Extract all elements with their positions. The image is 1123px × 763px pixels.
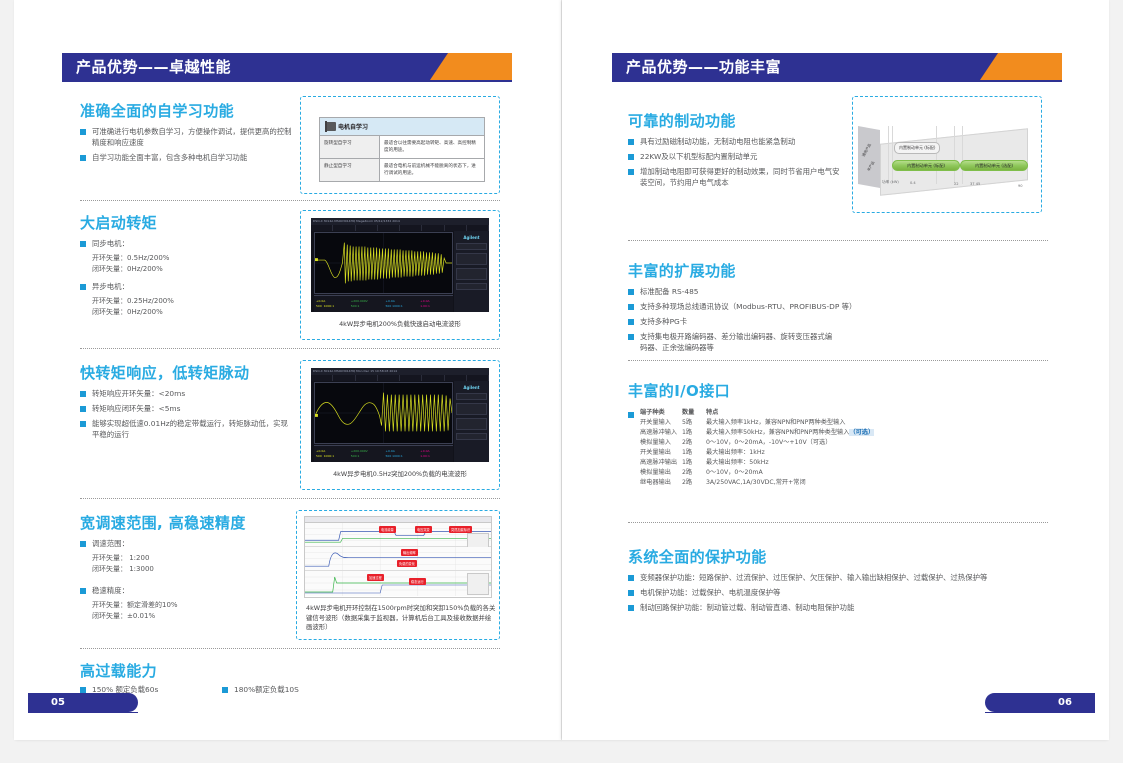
io-table: 端子种类 数量 特点 开关量输入 5路 最大输入频率1kHz，兼容NPN和PNP… bbox=[628, 408, 1028, 488]
group-label: 异步电机： bbox=[92, 281, 129, 292]
bullet-square-icon bbox=[80, 406, 86, 412]
scope-side-block bbox=[456, 403, 487, 415]
banner-wedge-orange bbox=[980, 53, 1062, 80]
table-cell-desc: 最适合以往需要高起动转矩、高速、高控制精度的用途。 bbox=[380, 136, 484, 158]
page-rule-left bbox=[28, 712, 138, 713]
bullet-text: 制动回路保护功能：制动管过载、制动管直通、制动电阻保护功能 bbox=[640, 602, 854, 613]
io-row-name: 模拟量输出 bbox=[628, 468, 682, 478]
list-item: 标准配备 RS-485 bbox=[628, 286, 958, 297]
bullet-text: 增加制动电阻即可获得更好的制动效果，同时节省用户电气安装空间，节约用户电气成本 bbox=[640, 166, 843, 188]
measurement: +0.0A500 1000:1 bbox=[384, 449, 419, 459]
spec-line: 闭环矢量：±0.01% bbox=[80, 611, 295, 622]
chart-panel-3: 加速过程 稳态运行 bbox=[305, 571, 491, 596]
motor-self-learning-table: 电机自学习 旋转型自学习 最适合以往需要高起动转矩、高速、高控制精度的用途。 静… bbox=[319, 117, 485, 182]
bullet-square-icon bbox=[628, 139, 634, 145]
io-table-row: 开关量输入 5路 最大输入频率1kHz，兼容NPN和PNP两种类型输入 bbox=[628, 418, 1028, 428]
bullet-square-icon bbox=[80, 541, 86, 547]
io-row-name: 继电器输出 bbox=[628, 478, 682, 488]
table-cell-desc: 最适合电机与前运机械不能脱离的状态下，进行调试的用途。 bbox=[380, 159, 484, 181]
bullet-square-icon bbox=[628, 289, 634, 295]
right-banner-title: 产品优势——功能丰富 bbox=[612, 56, 781, 77]
spec-line: 闭环矢量：0Hz/200% bbox=[80, 264, 295, 275]
diagram-tag-standard: 内置制动单元 (标配) bbox=[894, 142, 940, 154]
io-row-qty: 1路 bbox=[682, 428, 706, 438]
io-row-badge: （可选） bbox=[849, 429, 874, 436]
spec-line: 开环矢量：0.25Hz/200% bbox=[80, 296, 295, 307]
bullet-text: 能够实现超低速0.01Hz的稳定带载运行，转矩脉动低，实现平稳的运行 bbox=[92, 418, 295, 440]
heading-overload: 高过载能力 bbox=[80, 660, 157, 681]
scope-side-panel: Agilent bbox=[454, 231, 489, 312]
scope-side-block bbox=[456, 253, 487, 265]
braking-diagram: 通用产品 本产品 内置制动单元 (标配) 内置制动单元 (标配) 内置制动单元 … bbox=[858, 118, 1036, 194]
io-row-feature: 0～10V，0～20mA bbox=[706, 468, 1028, 478]
list-item: 支持多种现场总线通讯协议（Modbus-RTU、PROFIBUS-DP 等） bbox=[628, 301, 958, 312]
list-item: 支持多种PG卡 bbox=[628, 316, 958, 327]
chart-legend-box bbox=[467, 573, 489, 595]
list-item: 具有过励磁制动功能，无制动电阻也能紧急制动 bbox=[628, 136, 843, 147]
list-item: 可准确进行电机参数自学习，方便操作调试，提供更高的控制精度和响应速度 bbox=[80, 126, 295, 148]
table-row: 旋转型自学习 最适合以往需要高起动转矩、高速、高控制精度的用途。 bbox=[320, 136, 484, 159]
right-banner: 产品优势——功能丰富 bbox=[612, 53, 1062, 80]
bullet-square-icon bbox=[628, 412, 634, 418]
groups-starting-torque: 同步电机： 开环矢量：0.5Hz/200% 闭环矢量：0Hz/200% 异步电机… bbox=[80, 238, 295, 318]
oscilloscope-screenshot-1: DSO-X 3014A MSOX3014HQ MegaZoom 05/12/13… bbox=[311, 218, 489, 312]
io-row-name: 模拟量输入 bbox=[628, 438, 682, 448]
bullet-square-icon bbox=[628, 304, 634, 310]
diagram-pill-optional: 内置制动单元 (选配) bbox=[960, 160, 1028, 171]
io-table-header: 端子种类 数量 特点 bbox=[628, 408, 1028, 418]
axis-tick: 90 bbox=[1018, 184, 1023, 188]
io-table-row: 高速脉冲输出 1路 最大输出频率：50kHz bbox=[628, 458, 1028, 468]
io-table-row: 模拟量输出 2路 0～10V，0～20mA bbox=[628, 468, 1028, 478]
io-row-feature: 最大输入频率50kHz，兼容NPN和PNP两种类型输入（可选） bbox=[706, 428, 1028, 438]
bullet-text: 支持集电极开路编码器、差分输出编码器、旋转变压器式编码器、正余弦编码器等 bbox=[640, 331, 835, 353]
list-item: 转矩响应闭环矢量：<5ms bbox=[80, 403, 295, 414]
io-table-row: 高速脉冲输入 1路 最大输入频率50kHz，兼容NPN和PNP两种类型输入（可选… bbox=[628, 428, 1028, 438]
table-title: 电机自学习 bbox=[338, 122, 368, 131]
chart-annotation: 稳态运行 bbox=[409, 578, 426, 585]
page-rule-right bbox=[985, 712, 1095, 713]
scope-topbar: DSO-X 3014A MSOX3014HQ Mon Dec 15 10:58:… bbox=[311, 368, 489, 375]
chart-annotation: 加速过程 bbox=[367, 574, 384, 581]
heading-expansion: 丰富的扩展功能 bbox=[628, 260, 736, 281]
diagram-pill-standard: 内置制动单元 (标配) bbox=[892, 160, 960, 171]
table-cell-name: 静止型自学习 bbox=[320, 159, 380, 181]
grid-line bbox=[954, 126, 955, 184]
bullet-square-icon bbox=[80, 391, 86, 397]
brochure-spread: 产品优势——卓越性能 准确全面的自学习功能 可准确进行电机参数自学习，方便操作调… bbox=[0, 0, 1123, 763]
banner-wedge-orange bbox=[430, 53, 512, 80]
list-item: 同步电机： bbox=[80, 238, 295, 249]
scope-side-panel: Agilent bbox=[454, 381, 489, 462]
diagram-wall bbox=[858, 126, 880, 188]
divider bbox=[628, 360, 1048, 361]
scope-plot bbox=[314, 382, 453, 444]
io-row-name: 高速脉冲输出 bbox=[628, 458, 682, 468]
list-item: 支持集电极开路编码器、差分输出编码器、旋转变压器式编码器、正余弦编码器等 bbox=[628, 331, 958, 353]
heading-braking: 可靠的制动功能 bbox=[628, 110, 736, 131]
io-header-name: 端子种类 bbox=[640, 408, 665, 418]
scope-brand-label: Agilent bbox=[454, 381, 489, 390]
measurement: +0.0A500 1000:1 bbox=[384, 299, 419, 309]
bullet-text: 变频器保护功能：短路保护、过流保护、过压保护、欠压保护、输入输出缺相保护、过载保… bbox=[640, 572, 987, 583]
io-row-name: 开关量输出 bbox=[628, 448, 682, 458]
bullet-square-icon bbox=[628, 169, 634, 175]
bullets-braking: 具有过励磁制动功能，无制动电阻也能紧急制动 22KW及以下机型标配内置制动单元 … bbox=[628, 136, 843, 192]
grid-line bbox=[888, 126, 889, 184]
list-item: 制动回路保护功能：制动管过载、制动管直通、制动电阻保护功能 bbox=[628, 602, 1048, 613]
bullet-text: 支持多种PG卡 bbox=[640, 316, 687, 327]
bullet-square-icon bbox=[80, 241, 86, 247]
io-row-name: 开关量输入 bbox=[628, 418, 682, 428]
measurement: +200.000V500:1 bbox=[349, 449, 384, 459]
bullets-expansion: 标准配备 RS-485 支持多种现场总线通讯协议（Modbus-RTU、PROF… bbox=[628, 286, 958, 357]
scope-waveform-2 bbox=[315, 383, 452, 443]
bullet-text: 180%额定负载10S bbox=[234, 684, 299, 695]
chart-annotation: 电压突变 bbox=[415, 526, 432, 533]
bullets-overload-2: 180%额定负载10S bbox=[222, 684, 299, 699]
io-table-row: 模拟量输入 2路 0～10V，0～20mA，-10V～+10V（可选） bbox=[628, 438, 1028, 448]
scope-measurements: +0.0A500 1000:1 +200.000V500:1 +0.0A500 … bbox=[314, 445, 453, 462]
signal-chart-screenshot: 电流增量 电压突变 突然加载标识 输出频率 负载的变化 bbox=[304, 516, 492, 598]
scope-plot bbox=[314, 232, 453, 294]
bullet-square-icon bbox=[628, 605, 634, 611]
grid-line bbox=[936, 126, 937, 184]
scope-side-block bbox=[456, 243, 487, 250]
list-item: 变频器保护功能：短路保护、过流保护、过压保护、欠压保护、输入输出缺相保护、过载保… bbox=[628, 572, 1048, 583]
table-header: 电机自学习 bbox=[320, 118, 484, 136]
bullet-text: 自学习功能全面丰富，包含多种电机自学习功能 bbox=[92, 152, 247, 163]
list-item: 180%额定负载10S bbox=[222, 684, 299, 695]
divider bbox=[80, 200, 500, 201]
oscilloscope-screenshot-2: DSO-X 3014A MSOX3014HQ Mon Dec 15 10:58:… bbox=[311, 368, 489, 462]
chart-annotation: 负载的变化 bbox=[397, 560, 417, 567]
list-item: 能够实现超低速0.01Hz的稳定带载运行，转矩脉动低，实现平稳的运行 bbox=[80, 418, 295, 440]
left-banner-underline bbox=[62, 80, 512, 82]
group-label: 调速范围： bbox=[92, 538, 129, 549]
heading-self-learning: 准确全面的自学习功能 bbox=[80, 100, 234, 121]
page-left: 产品优势——卓越性能 准确全面的自学习功能 可准确进行电机参数自学习，方便操作调… bbox=[14, 0, 561, 740]
page-number-left-label: 05 bbox=[51, 697, 65, 708]
bullet-square-icon bbox=[628, 334, 634, 340]
group-label: 同步电机： bbox=[92, 238, 129, 249]
io-row-qty: 1路 bbox=[682, 448, 706, 458]
scope-waveform-1 bbox=[315, 233, 452, 293]
grid-line bbox=[962, 126, 963, 184]
table-row: 静止型自学习 最适合电机与前运机械不能脱离的状态下，进行调试的用途。 bbox=[320, 159, 484, 181]
io-row-feature: 3A/250VAC,1A/30VDC,常开+常闭 bbox=[706, 478, 1028, 488]
motor-icon bbox=[325, 121, 333, 132]
divider bbox=[80, 648, 500, 649]
scope-brand-label: Agilent bbox=[454, 231, 489, 240]
divider bbox=[80, 498, 500, 499]
measurement: +200.000V500:1 bbox=[349, 299, 384, 309]
left-banner: 产品优势——卓越性能 bbox=[62, 53, 512, 80]
heading-speed-range: 宽调速范围, 高稳速精度 bbox=[80, 512, 246, 533]
group-label: 稳速精度： bbox=[92, 585, 129, 596]
caption-scope-2: 4kW异步电机0.5Hz突加200%负载的电流波形 bbox=[306, 470, 494, 480]
bullet-text: 22KW及以下机型标配内置制动单元 bbox=[640, 151, 757, 162]
grid-line bbox=[892, 126, 893, 184]
right-banner-underline bbox=[612, 80, 1062, 82]
heading-protection: 系统全面的保护功能 bbox=[628, 546, 767, 567]
io-row-feature: 0～10V，0～20mA，-10V～+10V（可选） bbox=[706, 438, 1028, 448]
caption-signal-chart: 4kW异步电机开环控制在1500rpm时突加和突卸150%负载的各关键信号波形（… bbox=[302, 604, 496, 633]
bullets-self-learning: 可准确进行电机参数自学习，方便操作调试，提供更高的控制精度和响应速度 自学习功能… bbox=[80, 126, 295, 167]
divider bbox=[80, 348, 500, 349]
io-header-qty: 数量 bbox=[682, 408, 706, 418]
page-number-right-label: 06 bbox=[1058, 697, 1072, 708]
list-item: 增加制动电阻即可获得更好的制动效果，同时节省用户电气安装空间，节约用户电气成本 bbox=[628, 166, 843, 188]
bullet-text: 具有过励磁制动功能，无制动电阻也能紧急制动 bbox=[640, 136, 795, 147]
scope-side-block bbox=[456, 418, 487, 430]
bullet-square-icon bbox=[80, 421, 86, 427]
bullet-square-icon bbox=[628, 575, 634, 581]
axis-tick: 0.4 bbox=[910, 181, 916, 185]
chart-traces-3 bbox=[305, 571, 491, 596]
bullet-text: 转矩响应闭环矢量：<5ms bbox=[92, 403, 180, 414]
heading-io: 丰富的I/O接口 bbox=[628, 380, 730, 401]
axis-tick: 22 bbox=[954, 182, 959, 186]
measurement: +0.0A1.00:1 bbox=[418, 449, 453, 459]
chart-panel-2: 输出频率 负载的变化 bbox=[305, 547, 491, 571]
scope-topbar: DSO-X 3014A MSOX3014HQ MegaZoom 05/12/13… bbox=[311, 218, 489, 225]
bullet-square-icon bbox=[80, 129, 86, 135]
io-row-name: 高速脉冲输入 bbox=[628, 428, 682, 438]
io-table-row: 开关量输出 1路 最大输出频率：1kHz bbox=[628, 448, 1028, 458]
io-row-qty: 2路 bbox=[682, 478, 706, 488]
io-row-feature: 最大输出频率：1kHz bbox=[706, 448, 1028, 458]
scope-side-block bbox=[456, 268, 487, 280]
axis-tick: 37 45 bbox=[970, 182, 980, 186]
list-item: 稳速精度： bbox=[80, 585, 295, 596]
io-table-row: 继电器输出 2路 3A/250VAC,1A/30VDC,常开+常闭 bbox=[628, 478, 1028, 488]
scope-side-block bbox=[456, 433, 487, 440]
bullet-text: 电机保护功能：过载保护、电机温度保护等 bbox=[640, 587, 780, 598]
heading-torque-response: 快转矩响应，低转矩脉动 bbox=[80, 362, 249, 383]
heading-starting-torque: 大启动转矩 bbox=[80, 212, 157, 233]
chart-annotation: 输出频率 bbox=[401, 549, 418, 556]
divider bbox=[628, 240, 1048, 241]
spec-line: 开环矢量：额定滑差的10% bbox=[80, 600, 295, 611]
page-number-right: 06 bbox=[985, 693, 1095, 712]
bullet-text: 可准确进行电机参数自学习，方便操作调试，提供更高的控制精度和响应速度 bbox=[92, 126, 295, 148]
caption-scope-1: 4kW异步电机200%负载快速启动电流波形 bbox=[306, 320, 494, 330]
bullet-text: 标准配备 RS-485 bbox=[640, 286, 699, 297]
spec-line: 闭环矢量： 1:3000 bbox=[80, 564, 295, 575]
bullet-square-icon bbox=[628, 319, 634, 325]
spec-line: 开环矢量：0.5Hz/200% bbox=[80, 253, 295, 264]
scope-side-block bbox=[456, 283, 487, 290]
bullet-square-icon bbox=[80, 155, 86, 161]
chart-annotation: 突然加载标识 bbox=[449, 526, 472, 533]
list-item: 自学习功能全面丰富，包含多种电机自学习功能 bbox=[80, 152, 295, 163]
bullet-square-icon bbox=[80, 588, 86, 594]
bullets-torque-response: 转矩响应开环矢量：<20ms 转矩响应闭环矢量：<5ms 能够实现超低速0.01… bbox=[80, 388, 295, 444]
list-item: 22KW及以下机型标配内置制动单元 bbox=[628, 151, 843, 162]
io-row-qty: 2路 bbox=[682, 438, 706, 448]
measurement: +0.0A500 1000:1 bbox=[314, 449, 349, 459]
divider bbox=[628, 522, 1048, 523]
bullet-square-icon bbox=[222, 687, 228, 693]
page-number-left: 05 bbox=[28, 693, 138, 712]
chart-panel-1: 电流增量 电压突变 突然加载标识 bbox=[305, 523, 491, 547]
left-banner-title: 产品优势——卓越性能 bbox=[62, 56, 231, 77]
io-row-feature: 最大输出频率：50kHz bbox=[706, 458, 1028, 468]
chart-annotation: 电流增量 bbox=[379, 526, 396, 533]
bullet-text: 转矩响应开环矢量：<20ms bbox=[92, 388, 185, 399]
list-item: 异步电机： bbox=[80, 281, 295, 292]
bullet-text: 支持多种现场总线通讯协议（Modbus-RTU、PROFIBUS-DP 等） bbox=[640, 301, 856, 312]
list-item: 电机保护功能：过载保护、电机温度保护等 bbox=[628, 587, 1048, 598]
spec-line: 闭环矢量：0Hz/200% bbox=[80, 307, 295, 318]
list-item: 转矩响应开环矢量：<20ms bbox=[80, 388, 295, 399]
bullets-protection: 变频器保护功能：短路保护、过流保护、过压保护、欠压保护、输入输出缺相保护、过载保… bbox=[628, 572, 1048, 617]
axis-unit-label: 功率 (kW) bbox=[882, 180, 899, 185]
io-row-feature: 最大输入频率1kHz，兼容NPN和PNP两种类型输入 bbox=[706, 418, 1028, 428]
bullet-square-icon bbox=[80, 284, 86, 290]
groups-speed-range: 调速范围： 开环矢量： 1:200 闭环矢量： 1:3000 稳速精度： 开环矢… bbox=[80, 538, 295, 622]
scope-measurements: +0.0A500 1000:1 +200.000V500:1 +0.0A500 … bbox=[314, 295, 453, 312]
page-right: 产品优势——功能丰富 可靠的制动功能 具有过励磁制动功能，无制动电阻也能紧急制动… bbox=[562, 0, 1109, 740]
measurement: +0.0A500 1000:1 bbox=[314, 299, 349, 309]
io-row-qty: 2路 bbox=[682, 468, 706, 478]
spec-line: 开环矢量： 1:200 bbox=[80, 553, 295, 564]
measurement: +0.0A1.00:1 bbox=[418, 299, 453, 309]
list-item: 调速范围： bbox=[80, 538, 295, 549]
io-header-feature: 特点 bbox=[706, 408, 1028, 418]
bullet-square-icon bbox=[628, 590, 634, 596]
table-cell-name: 旋转型自学习 bbox=[320, 136, 380, 158]
bullet-square-icon bbox=[628, 154, 634, 160]
scope-side-block bbox=[456, 393, 487, 400]
io-row-qty: 1路 bbox=[682, 458, 706, 468]
io-row-qty: 5路 bbox=[682, 418, 706, 428]
